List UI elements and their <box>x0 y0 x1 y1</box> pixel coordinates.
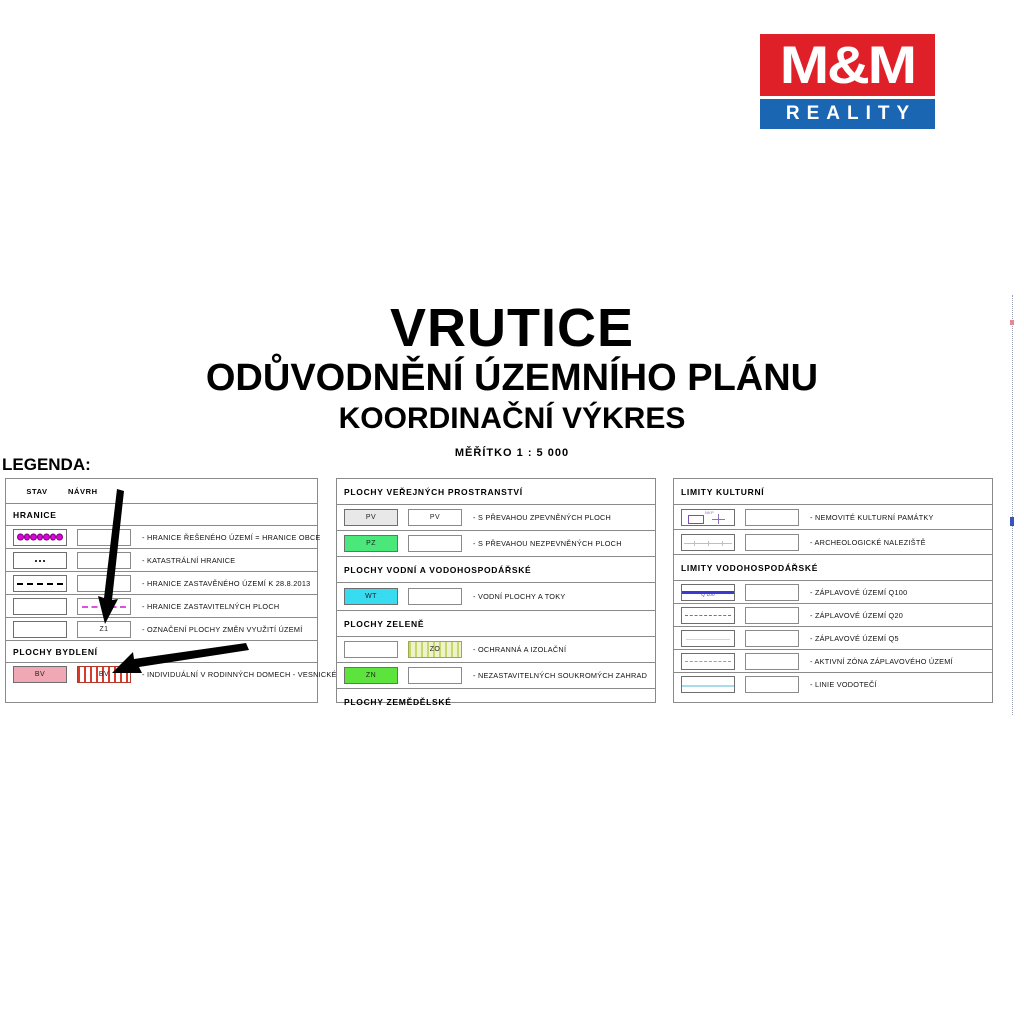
section-title: LIMITY VODOHOSPODÁŘSKÉ <box>681 563 818 573</box>
page-subtitle-2: KOORDINAČNÍ VÝKRES <box>0 400 1024 438</box>
swatch-stav <box>681 534 735 551</box>
swatch-stav <box>681 607 735 624</box>
legend-heading: LEGENDA: <box>2 455 91 475</box>
section-header-limity-kulturni: LIMITY KULTURNÍ <box>674 479 992 505</box>
logo-red-block: M&M <box>760 34 935 96</box>
swatch-navrh <box>408 588 462 605</box>
legend-row: ZO - OCHRANNÁ A IZOLAČNÍ <box>337 637 655 663</box>
swatch-code: Z1 <box>100 626 109 633</box>
legend-label: - NEZASTAVITELNÝCH SOUKROMÝCH ZAHRAD <box>473 671 647 680</box>
header-stav: STAV <box>6 487 68 496</box>
legend-label: - S PŘEVAHOU ZPEVNĚNÝCH PLOCH <box>473 513 611 522</box>
swatch-stav <box>344 641 398 658</box>
swatch-stav: PZ <box>344 535 398 552</box>
swatch-stav <box>681 630 735 647</box>
legend-label: - INDIVIDUÁLNÍ V RODINNÝCH DOMECH - VESN… <box>142 670 337 679</box>
legend-label: - AKTIVNÍ ZÓNA ZÁPLAVOVÉHO ÚZEMÍ <box>810 657 953 666</box>
swatch-navrh <box>408 535 462 552</box>
archaeology-site-icon <box>682 535 734 550</box>
swatch-navrh <box>77 552 131 569</box>
swatch-stav <box>13 621 67 638</box>
dash-dot-line-icon <box>35 560 45 562</box>
swatch-navrh <box>77 598 131 615</box>
swatch-navrh: PV <box>408 509 462 526</box>
bold-dashed-line-icon <box>17 583 63 585</box>
legend-row: - ZÁPLAVOVÉ ÚZEMÍ Q5 <box>674 627 992 650</box>
flood-q5-line-icon <box>686 639 730 640</box>
swatch-code: ZO <box>430 646 441 653</box>
section-title: LIMITY KULTURNÍ <box>681 487 764 497</box>
legend-label: - VODNÍ PLOCHY A TOKY <box>473 592 565 601</box>
legend-label: - HRANICE ZASTAVĚNÉHO ÚZEMÍ K 28.8.2013 <box>142 579 310 588</box>
legend-row: - ZÁPLAVOVÉ ÚZEMÍ Q20 <box>674 604 992 627</box>
page-subtitle: ODŮVODNĚNÍ ÚZEMNÍHO PLÁNU <box>0 357 1024 401</box>
swatch-navrh <box>745 509 799 526</box>
legend-row: Z1 - OZNAČENÍ PLOCHY ZMĚN VYUŽITÍ ÚZEMÍ <box>6 618 317 641</box>
legend-row: - HRANICE ŘEŠENÉHO ÚZEMÍ = HRANICE OBCE <box>6 526 317 549</box>
swatch-navrh <box>745 607 799 624</box>
boundary-dots-icon <box>17 534 63 541</box>
section-header-plochy-vodni: PLOCHY VODNÍ A VODOHOSPODÁŘSKÉ <box>337 557 655 583</box>
legend-label: - LINIE VODOTEČÍ <box>810 680 877 689</box>
legend-row: - AKTIVNÍ ZÓNA ZÁPLAVOVÉHO ÚZEMÍ <box>674 650 992 673</box>
swatch-navrh <box>745 630 799 647</box>
legend-label: - HRANICE ZASTAVITELNÝCH PLOCH <box>142 602 279 611</box>
swatch-stav: NKP <box>681 509 735 526</box>
swatch-code: BV <box>99 671 109 678</box>
logo-tagline-text: REALITY <box>779 103 916 125</box>
section-title: PLOCHY ZELENĚ <box>344 619 424 629</box>
legend-row: - HRANICE ZASTAVITELNÝCH PLOCH <box>6 595 317 618</box>
section-title: HRANICE <box>13 510 57 520</box>
legend-row: - HRANICE ZASTAVĚNÉHO ÚZEMÍ K 28.8.2013 <box>6 572 317 595</box>
legend-row: - ARCHEOLOGICKÉ NALEZIŠTĚ <box>674 530 992 555</box>
section-title: PLOCHY VODNÍ A VODOHOSPODÁŘSKÉ <box>344 565 531 575</box>
legend-column-2: PLOCHY VEŘEJNÝCH PROSTRANSTVÍ PV PV - S … <box>336 478 656 703</box>
section-header-verejna-prostranstvi: PLOCHY VEŘEJNÝCH PROSTRANSTVÍ <box>337 479 655 505</box>
legend-column-3: LIMITY KULTURNÍ NKP - NEMOVITÉ KULTURNÍ … <box>673 478 993 703</box>
swatch-code: PV <box>366 514 376 521</box>
map-scale: MĚŘÍTKO 1 : 5 000 <box>0 447 1024 459</box>
heritage-symbol-label: NKP <box>705 510 714 515</box>
section-header-hranice: HRANICE <box>6 504 317 526</box>
swatch-stav: BV <box>13 666 67 683</box>
legend-row: WT - VODNÍ PLOCHY A TOKY <box>337 583 655 611</box>
legend-row: PZ - S PŘEVAHOU NEZPEVNĚNÝCH PLOCH <box>337 531 655 557</box>
watercourse-line-icon <box>682 685 734 687</box>
legend-label: - OCHRANNÁ A IZOLAČNÍ <box>473 645 566 654</box>
legend-label: - ZÁPLAVOVÉ ÚZEMÍ Q20 <box>810 611 903 620</box>
flood-q20-dashed-line-icon <box>685 615 731 616</box>
map-edge-marker-blue <box>1010 517 1014 526</box>
swatch-navrh <box>408 667 462 684</box>
swatch-stav: Q 100 <box>681 584 735 601</box>
section-title: PLOCHY ZEMĚDĚLSKÉ <box>344 697 452 707</box>
swatch-code: PV <box>430 514 440 521</box>
legend-label: - KATASTRÁLNÍ HRANICE <box>142 556 235 565</box>
section-title: PLOCHY BYDLENÍ <box>13 647 98 657</box>
swatch-navrh: Z1 <box>77 621 131 638</box>
map-edge-dotted-line <box>1012 295 1013 715</box>
section-header-plochy-zelene: PLOCHY ZELENĚ <box>337 611 655 637</box>
header-navrh: NÁVRH <box>68 487 98 496</box>
swatch-navrh <box>745 653 799 670</box>
legend-label: - S PŘEVAHOU NEZPEVNĚNÝCH PLOCH <box>473 539 622 548</box>
swatch-stav: WT <box>344 588 398 605</box>
flood-q100-label: Q 100 <box>682 592 734 597</box>
legend-label: - ARCHEOLOGICKÉ NALEZIŠTĚ <box>810 538 926 547</box>
legend-label: - OZNAČENÍ PLOCHY ZMĚN VYUŽITÍ ÚZEMÍ <box>142 625 303 634</box>
section-header-plochy-zemedelske: PLOCHY ZEMĚDĚLSKÉ <box>337 689 655 715</box>
swatch-code: PZ <box>366 540 376 547</box>
swatch-stav <box>13 529 67 546</box>
swatch-code: WT <box>365 593 377 600</box>
legend-row: BV BV - INDIVIDUÁLNÍ V RODINNÝCH DOMECH … <box>6 663 317 686</box>
legend-label: - NEMOVITÉ KULTURNÍ PAMÁTKY <box>810 513 934 522</box>
swatch-navrh <box>745 534 799 551</box>
legend-label: - HRANICE ŘEŠENÉHO ÚZEMÍ = HRANICE OBCE <box>142 533 321 542</box>
legend-row: ZN - NEZASTAVITELNÝCH SOUKROMÝCH ZAHRAD <box>337 663 655 689</box>
section-header-plochy-bydleni: PLOCHY BYDLENÍ <box>6 641 317 663</box>
legend-row: - KATASTRÁLNÍ HRANICE <box>6 549 317 572</box>
swatch-navrh <box>77 529 131 546</box>
swatch-navrh <box>745 584 799 601</box>
legend-row: NKP - NEMOVITÉ KULTURNÍ PAMÁTKY <box>674 505 992 530</box>
legend-label: - ZÁPLAVOVÉ ÚZEMÍ Q5 <box>810 634 899 643</box>
swatch-stav <box>13 598 67 615</box>
swatch-navrh <box>77 575 131 592</box>
legend-row: - LINIE VODOTEČÍ <box>674 673 992 696</box>
logo-brand-text: M&M <box>780 39 915 92</box>
legend-label: - ZÁPLAVOVÉ ÚZEMÍ Q100 <box>810 588 907 597</box>
page-title: VRUTICE <box>0 300 1024 357</box>
logo-blue-block: REALITY <box>760 99 935 129</box>
magenta-dashed-line-icon <box>82 606 126 608</box>
title-block: VRUTICE ODŮVODNĚNÍ ÚZEMNÍHO PLÁNU KOORDI… <box>0 300 1024 459</box>
heritage-monument-icon: NKP <box>682 510 734 525</box>
swatch-stav: PV <box>344 509 398 526</box>
swatch-navrh: BV <box>77 666 131 683</box>
swatch-code: BV <box>35 671 45 678</box>
swatch-navrh <box>745 676 799 693</box>
swatch-stav <box>13 575 67 592</box>
legend-column-header: STAV NÁVRH <box>6 479 317 504</box>
legend-column-1: STAV NÁVRH HRANICE - HRANICE ŘEŠENÉHO ÚZ… <box>5 478 318 703</box>
active-flood-zone-line-icon <box>685 661 731 662</box>
section-title: PLOCHY VEŘEJNÝCH PROSTRANSTVÍ <box>344 487 523 497</box>
section-header-limity-vodohospodarske: LIMITY VODOHOSPODÁŘSKÉ <box>674 555 992 581</box>
swatch-stav: ZN <box>344 667 398 684</box>
swatch-navrh: ZO <box>408 641 462 658</box>
swatch-stav <box>681 653 735 670</box>
legend-row: Q 100 - ZÁPLAVOVÉ ÚZEMÍ Q100 <box>674 581 992 604</box>
swatch-code: ZN <box>366 672 376 679</box>
mm-reality-logo: M&M REALITY <box>760 34 935 129</box>
swatch-stav <box>681 676 735 693</box>
legend-row: PV PV - S PŘEVAHOU ZPEVNĚNÝCH PLOCH <box>337 505 655 531</box>
swatch-stav <box>13 552 67 569</box>
map-edge-marker-pink <box>1010 320 1014 325</box>
